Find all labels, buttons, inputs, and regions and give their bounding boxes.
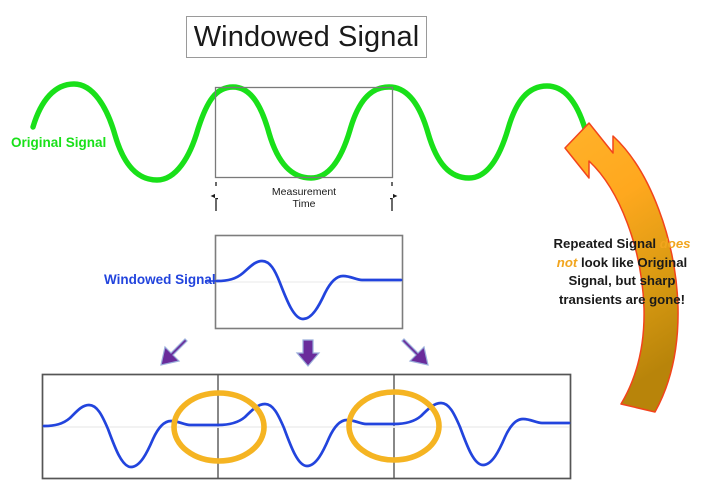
original-signal-group (33, 84, 613, 180)
purple-arrow-down (297, 340, 319, 366)
note-text-part2: look like Original Signal, but sharp tra… (559, 255, 687, 307)
diagram-title-box: Windowed Signal (186, 16, 427, 58)
note-text-part1: Repeated Signal (553, 236, 659, 251)
measurement-time-line1: Measurement (215, 186, 393, 198)
original-signal-label: Original Signal (11, 135, 106, 151)
purple-arrow-down-right (402, 339, 428, 365)
page-title: Windowed Signal (194, 23, 420, 52)
original-signal-curve (33, 84, 613, 180)
diagram-canvas: Windowed Signal Original Signal Windowed… (0, 0, 708, 489)
measurement-time-line2: Time (215, 198, 393, 210)
measurement-time-label: Measurement Time (215, 186, 393, 211)
windowed-signal-panel-group (216, 236, 403, 329)
purple-arrow-down-left (161, 339, 187, 365)
repeated-signal-panel-group (43, 375, 571, 479)
windowed-signal-label: Windowed Signal (104, 272, 216, 288)
repeated-signal-note: Repeated Signal does not look like Origi… (549, 235, 695, 310)
